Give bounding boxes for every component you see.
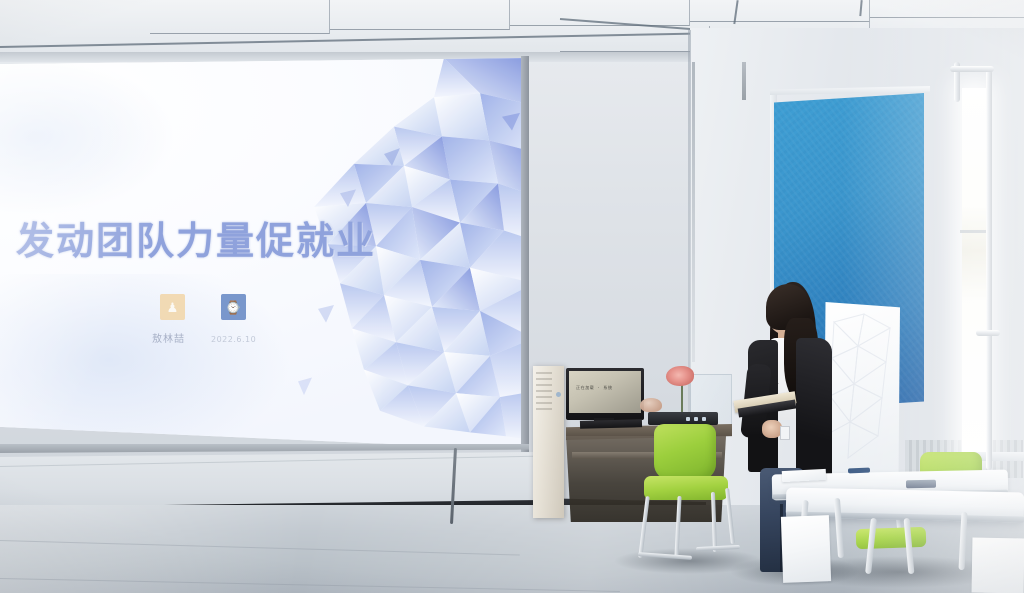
pipe-bracket <box>976 330 1000 336</box>
clock-icon-glyph: ⌚ <box>225 301 241 314</box>
window-strip <box>962 88 986 458</box>
screen-frame-right <box>521 56 529 452</box>
green-chair-front-seat[interactable] <box>856 527 927 549</box>
name-badge <box>780 426 790 440</box>
chair-leg <box>638 496 650 558</box>
clock-icon: ⌚ <box>221 294 246 320</box>
horizontal-pipe <box>950 66 994 72</box>
chair-backrest <box>654 424 716 480</box>
console-led <box>694 417 698 421</box>
console-led <box>702 417 706 421</box>
classroom-scene: 发动团队力量促就业 ♟ ⌚ 敖林喆 2022.6.10 <box>0 0 1024 593</box>
ceiling-tile <box>330 0 510 30</box>
ceiling-conduit <box>742 62 746 100</box>
hand-on-mouse <box>640 398 662 412</box>
vertical-pipe <box>986 70 992 470</box>
chair-sled-rail <box>696 545 740 551</box>
slide-wash-upper <box>0 58 260 215</box>
device-on-table[interactable] <box>906 480 936 489</box>
slide-icon-row: ♟ ⌚ <box>160 294 246 320</box>
projection-screen: 发动团队力量促就业 ♟ ⌚ 敖林喆 2022.6.10 <box>0 58 528 450</box>
ceiling-tile <box>870 0 1024 18</box>
green-chair-center[interactable] <box>630 424 742 564</box>
slide-author: 敖林喆 <box>152 330 185 345</box>
pen-on-table[interactable] <box>848 468 870 474</box>
window-mullion <box>960 230 988 233</box>
chair-leg <box>711 492 717 552</box>
person-icon-glyph: ♟ <box>167 301 179 314</box>
monitor-text: 正在加载 · 系统 <box>576 385 613 391</box>
console-led <box>686 417 690 421</box>
chair-seat <box>644 476 728 500</box>
ceiling-tile <box>150 0 330 34</box>
chair-leg <box>674 496 681 558</box>
chair-leg <box>725 488 735 544</box>
jacket-right <box>796 338 832 478</box>
pc-drive-bays <box>536 372 552 410</box>
hanging-paper-right <box>972 538 1024 593</box>
flower-arrangement <box>666 366 694 386</box>
chair-sled-rail <box>638 552 692 560</box>
ceiling-tile <box>690 0 870 22</box>
slide-meta: 敖林喆 2022.6.10 <box>152 330 256 345</box>
pc-power-button[interactable] <box>556 392 561 397</box>
hand <box>762 420 782 438</box>
hanging-paper-left <box>781 515 831 583</box>
slide-date: 2022.6.10 <box>211 335 256 344</box>
person-icon: ♟ <box>160 294 185 320</box>
monitor-screen: 正在加载 · 系统 <box>569 371 641 413</box>
wall-conduit <box>692 62 695 362</box>
slide-title: 发动团队力量促就业 <box>16 210 376 265</box>
paper-on-table <box>782 469 827 482</box>
